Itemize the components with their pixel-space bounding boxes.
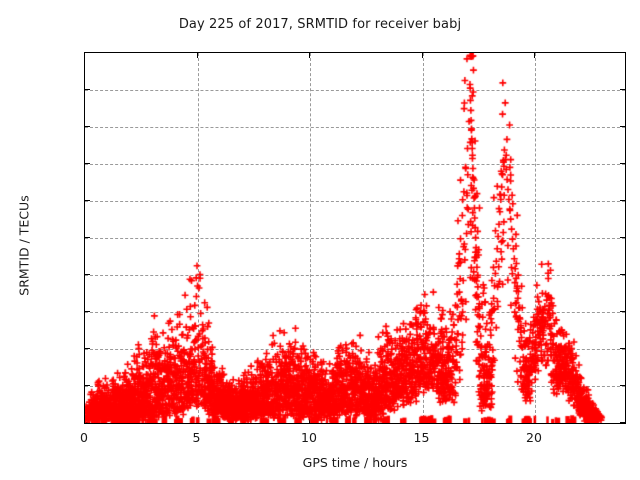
x-tick-label: 0 <box>64 430 104 445</box>
plot-area <box>84 52 626 424</box>
scatter-series-srmtid <box>85 53 625 423</box>
page-title: Day 225 of 2017, SRMTID for receiver bab… <box>0 17 640 32</box>
x-tick-label: 5 <box>177 430 217 445</box>
x-axis-label: GPS time / hours <box>84 455 626 470</box>
y-axis-label: SRMTID / TECUs <box>17 146 32 346</box>
chart-figure: Day 225 of 2017, SRMTID for receiver bab… <box>0 0 640 480</box>
x-tick-label: 10 <box>289 430 329 445</box>
x-tick-label: 15 <box>402 430 442 445</box>
x-tick-label: 20 <box>514 430 554 445</box>
